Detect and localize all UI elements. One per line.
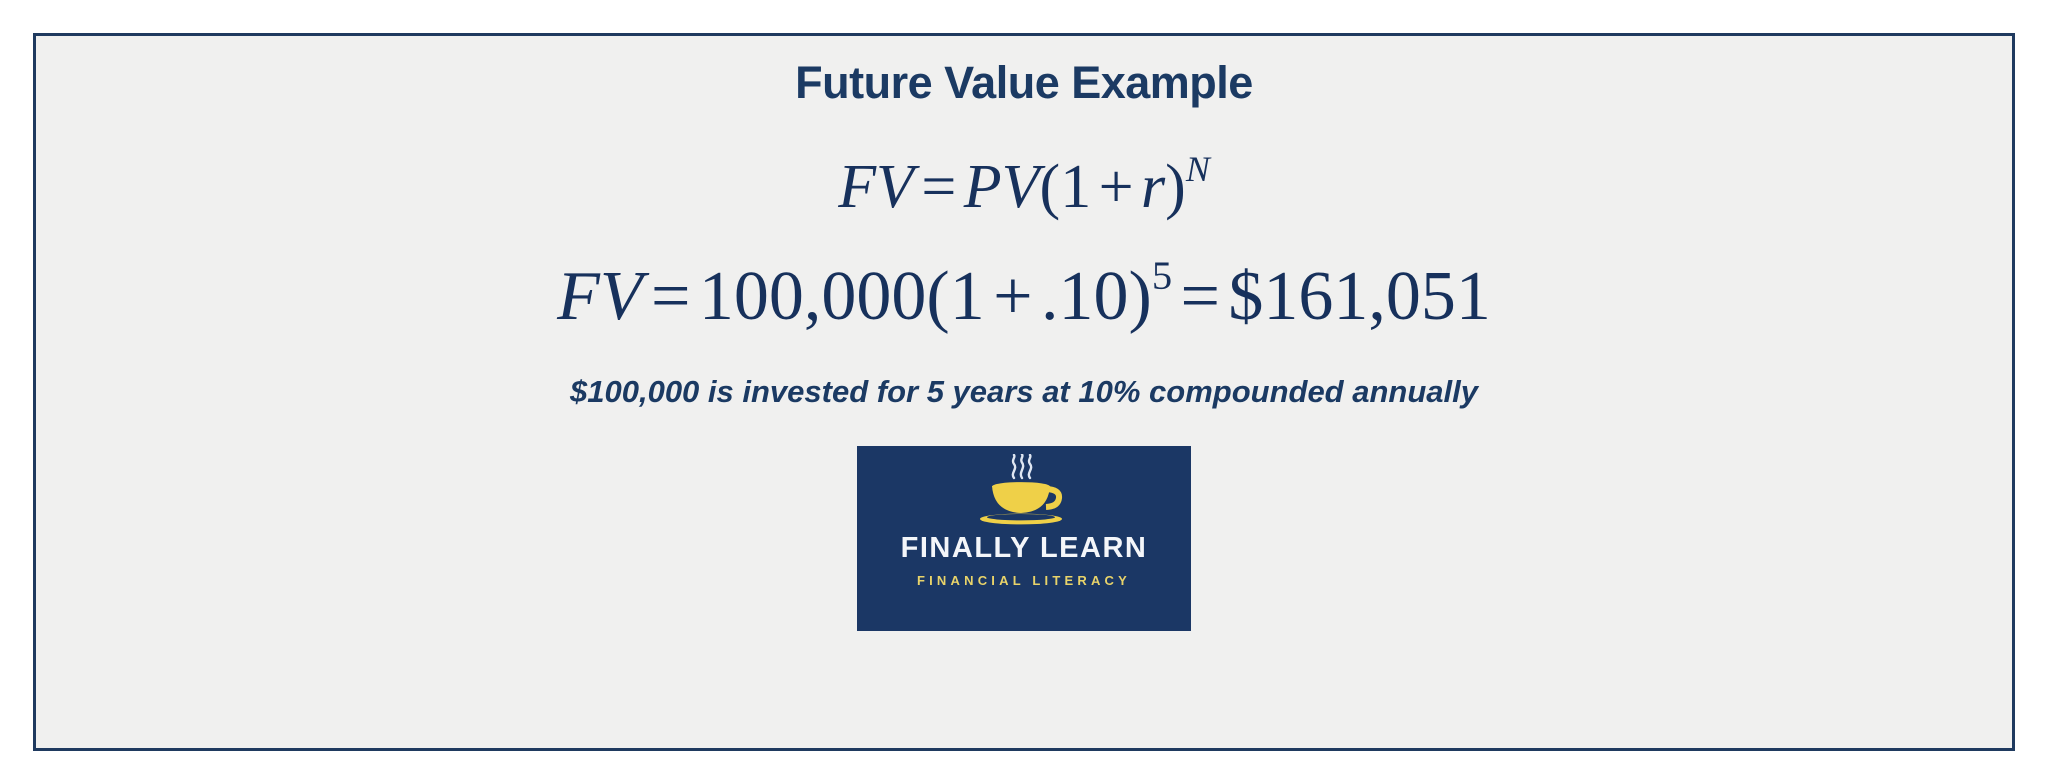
brand-logo: FINALLY LEARN FINANCIAL LITERACY (857, 446, 1191, 631)
formula-pv: PV (964, 153, 1040, 221)
formula-equals: = (914, 153, 964, 221)
formula-lhs: FV (838, 153, 914, 221)
assumption-caption: $100,000 is invested for 5 years at 10% … (570, 374, 1478, 410)
coffee-cup-icon (964, 454, 1084, 532)
worked-equals: = (643, 258, 699, 335)
worked-one: 1 (950, 258, 985, 335)
worked-equals-2: = (1172, 258, 1228, 335)
worked-close-paren: ) (1129, 258, 1152, 335)
worked-plus: + (985, 258, 1041, 335)
formula-close-paren: ) (1165, 153, 1186, 221)
formula-one: 1 (1060, 153, 1091, 221)
logo-tagline: FINANCIAL LITERACY (917, 574, 1131, 587)
slide-frame: Future Value Example FV=PV(1+r)N FV=100,… (33, 33, 2015, 751)
page-title: Future Value Example (795, 58, 1253, 108)
formula-exponent: N (1186, 149, 1210, 189)
worked-open-paren: ( (926, 258, 949, 335)
formula-worked: FV=100,000(1+.10)5=$161,051 (557, 262, 1491, 332)
worked-result: $161,051 (1228, 258, 1491, 335)
formula-open-paren: ( (1040, 153, 1061, 221)
formula-rate: r (1141, 153, 1165, 221)
worked-lhs: FV (557, 258, 643, 335)
worked-exponent: 5 (1152, 253, 1172, 298)
logo-wordmark: FINALLY LEARN (901, 534, 1148, 563)
worked-present-value: 100,000 (699, 258, 927, 335)
worked-rate: .10 (1041, 258, 1129, 335)
formula-general: FV=PV(1+r)N (838, 156, 1210, 218)
formula-plus: + (1091, 153, 1141, 221)
